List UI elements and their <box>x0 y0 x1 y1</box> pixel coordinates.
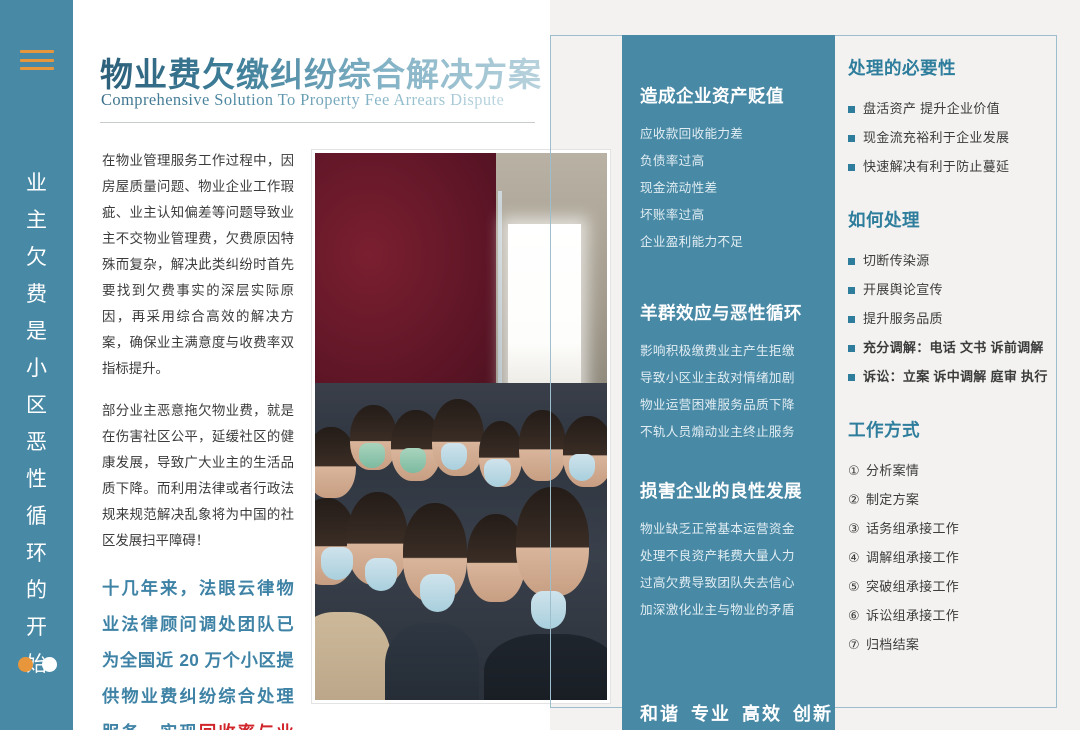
right-list-label: 制定方案 <box>866 485 919 514</box>
right-group-heading: 工作方式 <box>848 417 1053 442</box>
middle-group-heading: 造成企业资产贬值 <box>640 83 830 108</box>
photo-person-body <box>385 623 478 700</box>
circled-number-icon: ③ <box>848 514 860 543</box>
middle-group-1: 造成企业资产贬值 应收款回收能力差 负债率过高 现金流动性差 坏账率过高 企业盈… <box>640 83 830 256</box>
sidebar-title-char: 区 <box>0 387 73 424</box>
square-bullet-icon <box>848 287 855 294</box>
circled-number-icon: ⑥ <box>848 601 860 630</box>
right-list-label: 分析案情 <box>866 456 919 485</box>
pagination-dots[interactable] <box>18 657 57 672</box>
circled-number-icon: ⑤ <box>848 572 860 601</box>
middle-list-item: 不轨人员煽动业主终止服务 <box>640 419 830 446</box>
right-list-item: ③ 话务组承接工作 <box>848 514 1053 543</box>
sidebar-title-char: 欠 <box>0 239 73 276</box>
page-title: 物业费欠缴纠纷综合解决方案 <box>100 48 542 96</box>
left-sidebar: 业主欠费是小区恶性循环的开始 <box>0 0 73 730</box>
square-bullet-icon <box>848 164 855 171</box>
slogan-word: 创新 <box>793 704 833 724</box>
circled-number-icon: ② <box>848 485 860 514</box>
sidebar-vertical-title: 业主欠费是小区恶性循环的开始 <box>0 165 73 683</box>
right-content-column: 处理的必要性 盘活资产 提升企业价值 现金流充裕利于企业发展 快速解决有利于防止… <box>848 55 1053 685</box>
middle-list-item: 过高欠费导致团队失去信心 <box>640 570 830 597</box>
middle-list-item: 坏账率过高 <box>640 202 830 229</box>
middle-blue-panel: 造成企业资产贬值 应收款回收能力差 负债率过高 现金流动性差 坏账率过高 企业盈… <box>622 35 835 730</box>
photo-wall <box>315 153 496 405</box>
middle-list-item: 导致小区业主敌对情绪加剧 <box>640 365 830 392</box>
square-bullet-icon <box>848 135 855 142</box>
square-bullet-icon <box>848 258 855 265</box>
right-list-label: 归档结案 <box>866 630 919 659</box>
circled-number-icon: ④ <box>848 543 860 572</box>
sidebar-title-char: 环 <box>0 535 73 572</box>
right-list-label: 快速解决有利于防止蔓延 <box>863 152 1009 181</box>
square-bullet-icon <box>848 345 855 352</box>
right-list-label: 切断传染源 <box>863 246 930 275</box>
right-list-item: ① 分析案情 <box>848 456 1053 485</box>
slogan-word: 高效 <box>742 704 782 724</box>
dot-active[interactable] <box>18 657 33 672</box>
right-list-item: ④ 调解组承接工作 <box>848 543 1053 572</box>
page-subtitle: Comprehensive Solution To Property Fee A… <box>101 90 504 110</box>
right-list-item: 现金流充裕利于企业发展 <box>848 123 1053 152</box>
right-list-item: 快速解决有利于防止蔓延 <box>848 152 1053 181</box>
sidebar-title-char: 费 <box>0 276 73 313</box>
middle-list-item: 负债率过高 <box>640 148 830 175</box>
right-group-heading: 如何处理 <box>848 207 1053 232</box>
right-list-item: 盘活资产 提升企业价值 <box>848 94 1053 123</box>
hamburger-bar <box>20 59 54 62</box>
right-list-item: 提升服务品质 <box>848 304 1053 333</box>
right-group-workflow: 工作方式 ① 分析案情 ② 制定方案 ③ 话务组承接工作 ④ 调解组承接工作 ⑤… <box>848 417 1053 659</box>
square-bullet-icon <box>848 374 855 381</box>
middle-list-item: 影响积极缴费业主产生拒缴 <box>640 338 830 365</box>
right-list-item: 开展舆论宣传 <box>848 275 1053 304</box>
highlight-prefix: 十几年来，法眼云律物业法律顾问调处团队已为全国近 20 万个小区提供物业费纠纷综… <box>102 578 294 730</box>
right-list-label: 充分调解：电话 文书 诉前调解 <box>863 333 1044 362</box>
circled-number-icon: ① <box>848 456 860 485</box>
right-group-necessity: 处理的必要性 盘活资产 提升企业价值 现金流充裕利于企业发展 快速解决有利于防止… <box>848 55 1053 181</box>
slogan-row: 和谐专业高效创新 <box>640 700 833 726</box>
slogan-word: 和谐 <box>640 704 680 724</box>
sidebar-title-char: 循 <box>0 498 73 535</box>
paragraph-1: 在物业管理服务工作过程中，因房屋质量问题、物业企业工作瑕疵、业主认知偏差等问题导… <box>102 148 294 382</box>
sidebar-title-char: 的 <box>0 572 73 609</box>
right-list-label: 调解组承接工作 <box>866 543 959 572</box>
square-bullet-icon <box>848 316 855 323</box>
photo-face-mask <box>484 459 510 486</box>
sidebar-title-char: 小 <box>0 350 73 387</box>
circled-number-icon: ⑦ <box>848 630 860 659</box>
right-list-item: 诉讼：立案 诉中调解 庭审 执行 <box>848 362 1053 391</box>
hamburger-bar <box>20 67 54 70</box>
sidebar-title-char: 恶 <box>0 424 73 461</box>
photo-person-body <box>315 612 391 700</box>
middle-group-heading: 羊群效应与恶性循环 <box>640 300 830 325</box>
middle-list-item: 处理不良资产耗费大量人力 <box>640 543 830 570</box>
right-list-item: 充分调解：电话 文书 诉前调解 <box>848 333 1053 362</box>
right-list-item: ⑤ 突破组承接工作 <box>848 572 1053 601</box>
right-list-item: ⑦ 归档结案 <box>848 630 1053 659</box>
sidebar-title-char: 是 <box>0 313 73 350</box>
right-list-item: 切断传染源 <box>848 246 1053 275</box>
right-group-howto: 如何处理 切断传染源 开展舆论宣传 提升服务品质 充分调解：电话 文书 诉前调解… <box>848 207 1053 391</box>
photo-face-mask <box>321 547 353 580</box>
paragraph-2: 部分业主恶意拖欠物业费，就是在伤害社区公平，延缓社区的健康发展，导致广大业主的生… <box>102 398 294 554</box>
right-list-label: 突破组承接工作 <box>866 572 959 601</box>
sidebar-title-char: 性 <box>0 461 73 498</box>
slogan-word: 专业 <box>691 704 731 724</box>
right-group-heading: 处理的必要性 <box>848 55 1053 80</box>
middle-list-item: 企业盈利能力不足 <box>640 229 830 256</box>
right-list-label: 诉讼组承接工作 <box>866 601 959 630</box>
photo-face-mask <box>441 443 467 470</box>
right-list-label: 现金流充裕利于企业发展 <box>863 123 1009 152</box>
dot-inactive[interactable] <box>42 657 57 672</box>
photo-window-mullion <box>498 191 503 399</box>
middle-list-item: 加深激化业主与物业的矛盾 <box>640 597 830 624</box>
sidebar-title-char: 开 <box>0 609 73 646</box>
right-list-item: ⑥ 诉讼组承接工作 <box>848 601 1053 630</box>
middle-list-item: 应收款回收能力差 <box>640 121 830 148</box>
highlight-paragraph: 十几年来，法眼云律物业法律顾问调处团队已为全国近 20 万个小区提供物业费纠纷综… <box>102 570 294 730</box>
hamburger-icon[interactable] <box>20 50 54 70</box>
middle-group-3: 损害企业的良性发展 物业缺乏正常基本运营资金 处理不良资产耗费大量人力 过高欠费… <box>640 478 830 624</box>
sidebar-title-char: 主 <box>0 202 73 239</box>
right-list-label: 提升服务品质 <box>863 304 943 333</box>
middle-list-item: 物业运营困难服务品质下降 <box>640 392 830 419</box>
hamburger-bar <box>20 50 54 53</box>
poster-page: 业主欠费是小区恶性循环的开始 物业费欠缴纠纷综合解决方案 Comprehensi… <box>0 0 1080 730</box>
photo-face-mask <box>400 448 426 473</box>
photo-face-mask <box>359 443 385 468</box>
middle-group-2: 羊群效应与恶性循环 影响积极缴费业主产生拒缴 导致小区业主敌对情绪加剧 物业运营… <box>640 300 830 446</box>
photo-face-mask <box>365 558 397 591</box>
sidebar-title-char: 业 <box>0 165 73 202</box>
right-list-label: 话务组承接工作 <box>866 514 959 543</box>
middle-list-item: 现金流动性差 <box>640 175 830 202</box>
right-list-label: 开展舆论宣传 <box>863 275 943 304</box>
right-list-label: 诉讼：立案 诉中调解 庭审 执行 <box>863 362 1048 391</box>
middle-list-item: 物业缺乏正常基本运营资金 <box>640 516 830 543</box>
title-divider <box>100 122 535 123</box>
right-list-label: 盘活资产 提升企业价值 <box>863 94 1000 123</box>
right-list-item: ② 制定方案 <box>848 485 1053 514</box>
square-bullet-icon <box>848 106 855 113</box>
middle-group-heading: 损害企业的良性发展 <box>640 478 830 503</box>
body-text-block: 在物业管理服务工作过程中，因房屋质量问题、物业企业工作瑕疵、业主认知偏差等问题导… <box>102 148 294 730</box>
